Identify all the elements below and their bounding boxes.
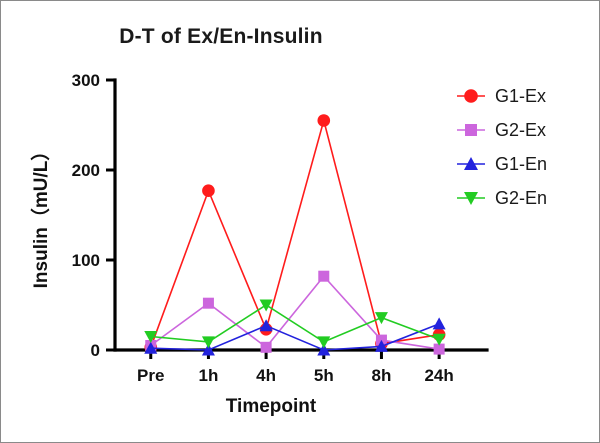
data-point-marker	[260, 300, 273, 312]
x-tick-label: 8h	[372, 366, 392, 385]
data-point-marker	[317, 114, 330, 127]
y-axis-ticks: 0100200300	[72, 71, 115, 360]
x-axis-ticks: Pre1h4h5h8h24h	[137, 350, 454, 385]
series-layer	[144, 114, 445, 355]
data-point-marker	[261, 342, 272, 353]
series-line	[151, 324, 439, 350]
legend-item-g1-ex[interactable]: G1-Ex	[457, 86, 546, 106]
legend-item-g2-ex[interactable]: G2-Ex	[457, 120, 546, 140]
chart-figure: D-T of Ex/En-Insulin Insulin（mU/L） Timep…	[0, 0, 600, 443]
legend-label: G2-En	[495, 188, 547, 208]
y-tick-label: 300	[72, 71, 100, 90]
legend-item-g1-en[interactable]: G1-En	[457, 154, 547, 174]
data-point-marker	[465, 124, 477, 136]
x-tick-label: 24h	[424, 366, 453, 385]
data-point-marker	[202, 184, 215, 197]
line-chart-plot: Insulin（mU/L） Timepoint 0100200300 Pre1h…	[1, 1, 600, 443]
x-tick-label: Pre	[137, 366, 164, 385]
y-tick-label: 100	[72, 251, 100, 270]
y-tick-label: 200	[72, 161, 100, 180]
x-tick-label: 4h	[256, 366, 276, 385]
data-point-marker	[317, 336, 330, 348]
legend-label: G1-Ex	[495, 86, 546, 106]
data-point-marker	[464, 89, 478, 103]
data-point-marker	[433, 317, 446, 329]
x-tick-label: 1h	[199, 366, 219, 385]
data-point-marker	[318, 271, 329, 282]
legend-label: G2-Ex	[495, 120, 546, 140]
data-point-marker	[375, 312, 388, 324]
legend-item-g2-en[interactable]: G2-En	[457, 188, 547, 208]
legend-label: G1-En	[495, 154, 547, 174]
data-point-marker	[202, 336, 215, 348]
series-g2-ex	[145, 271, 444, 355]
x-axis-title: Timepoint	[226, 396, 317, 417]
y-axis-title: Insulin（mU/L）	[29, 142, 52, 289]
data-point-marker	[203, 298, 214, 309]
chart-legend: G1-ExG2-ExG1-EnG2-En	[457, 86, 547, 208]
x-tick-label: 5h	[314, 366, 334, 385]
y-tick-label: 0	[91, 341, 100, 360]
